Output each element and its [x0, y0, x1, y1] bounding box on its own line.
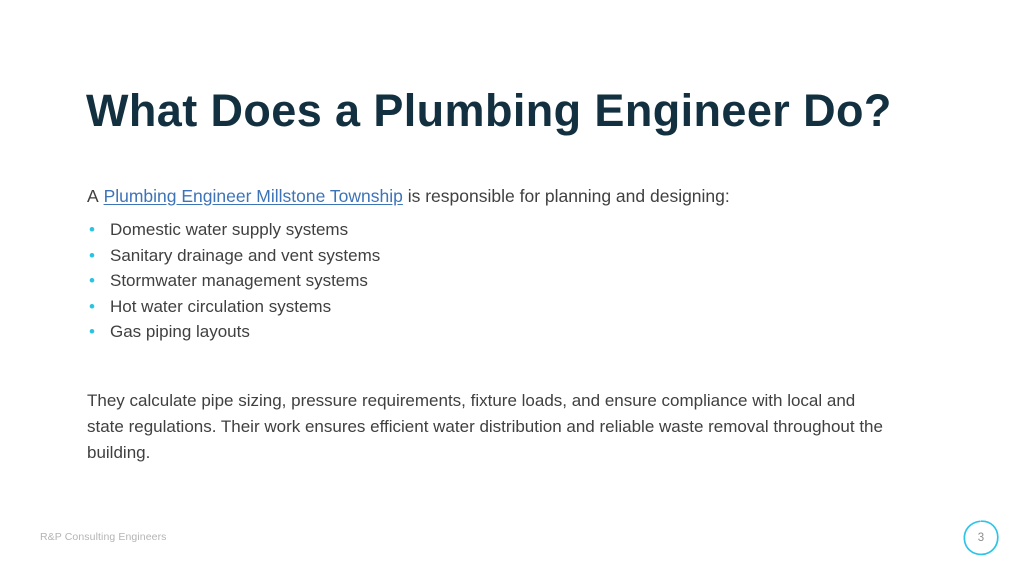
intro-tail-text: is responsible for planning and designin…	[408, 186, 730, 206]
list-item-label: Sanitary drainage and vent systems	[110, 246, 380, 265]
list-item: • Domestic water supply systems	[87, 217, 787, 243]
page-number-badge: 3	[961, 518, 1001, 558]
list-item-label: Gas piping layouts	[110, 322, 250, 341]
list-item: • Hot water circulation systems	[87, 294, 787, 320]
list-item: • Sanitary drainage and vent systems	[87, 243, 787, 269]
footer-brand: R&P Consulting Engineers	[40, 531, 167, 543]
services-bullet-list: • Domestic water supply systems • Sanita…	[87, 217, 787, 345]
body-paragraph: They calculate pipe sizing, pressure req…	[87, 388, 887, 465]
bullet-icon: •	[89, 268, 95, 294]
list-item-label: Hot water circulation systems	[110, 297, 331, 316]
intro-lead-text: A	[87, 186, 99, 206]
list-item-label: Domestic water supply systems	[110, 220, 348, 239]
list-item-label: Stormwater management systems	[110, 271, 368, 290]
slide-canvas: What Does a Plumbing Engineer Do? A Plum…	[0, 0, 1024, 576]
list-item: • Stormwater management systems	[87, 268, 787, 294]
list-item: • Gas piping layouts	[87, 319, 787, 345]
page-title: What Does a Plumbing Engineer Do?	[86, 86, 892, 136]
bullet-icon: •	[89, 243, 95, 269]
bullet-icon: •	[89, 217, 95, 243]
plumbing-engineer-link[interactable]: Plumbing Engineer Millstone Township	[104, 186, 403, 206]
intro-sentence: A Plumbing Engineer Millstone Township i…	[87, 183, 730, 209]
bullet-icon: •	[89, 319, 95, 345]
page-number-label: 3	[961, 518, 1001, 558]
bullet-icon: •	[89, 294, 95, 320]
